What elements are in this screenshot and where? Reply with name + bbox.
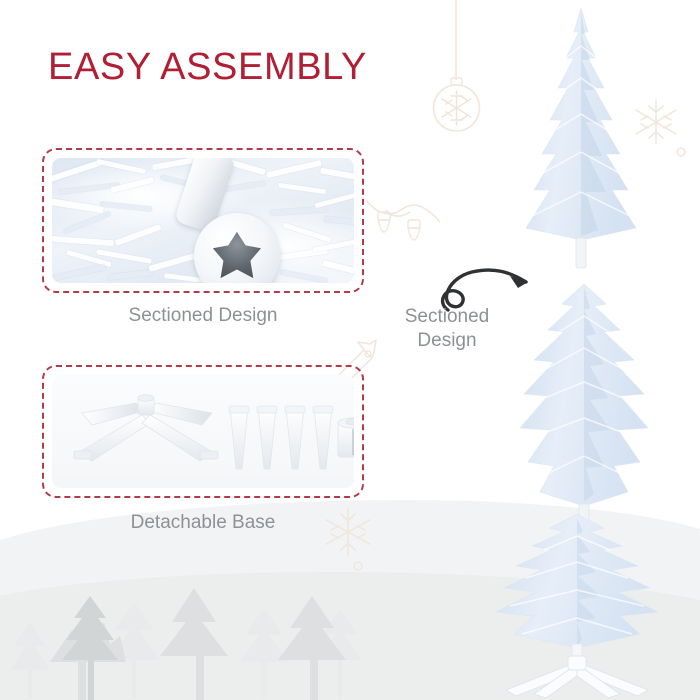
stand-assembly xyxy=(74,395,218,461)
marketing-image-canvas: EASY ASSEMBLY xyxy=(0,0,700,700)
caption-detachable-base: Detachable Base xyxy=(42,512,364,534)
hub-connector xyxy=(338,418,354,457)
tree-stand xyxy=(506,656,648,698)
photo-sectioned-design xyxy=(52,158,354,283)
pole-socket xyxy=(194,213,280,283)
tree-pole-stub-top xyxy=(576,238,586,268)
string-lights-icon xyxy=(352,186,452,266)
tree-section-bottom xyxy=(470,512,684,700)
panel-detachable-base xyxy=(42,365,364,498)
page-title: EASY ASSEMBLY xyxy=(48,46,367,89)
photo-detachable-base xyxy=(52,375,354,488)
caption-sectioned-design: Sectioned Design xyxy=(42,305,364,327)
cone-legs xyxy=(229,406,333,469)
tree-section-top xyxy=(486,6,676,294)
panel-sectioned-design xyxy=(42,148,364,293)
forest-silhouette xyxy=(0,510,420,700)
tree-section-middle xyxy=(486,278,682,542)
